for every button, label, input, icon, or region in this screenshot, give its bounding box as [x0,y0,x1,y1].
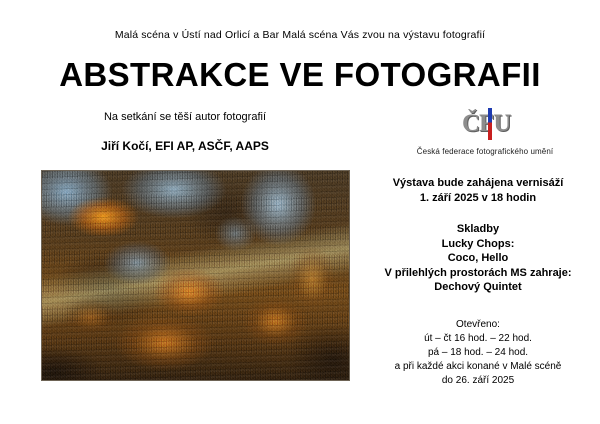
program-line: V přilehlých prostorách MS zahraje: [358,266,598,281]
cfu-flag-stripe-icon [488,108,492,140]
program-line: Dechový Quintet [358,280,598,295]
poster-canvas: Malá scéna v Ústí nad Orlicí a Bar Malá … [0,0,600,424]
hours-line: pá – 18 hod. – 24 hod. [358,346,598,360]
cfu-logo-letters: ČFU [462,108,508,140]
hours-heading: Otevřeno: [358,318,598,332]
poster-header-line: Malá scéna v Ústí nad Orlicí a Bar Malá … [0,29,600,41]
spacer [358,295,598,318]
hours-line: a při každé akci konané v Malé scéně [358,360,598,374]
program-block: Skladby Lucky Chops: Coco, Hello V přile… [358,222,598,295]
hours-block: Otevřeno: út – čt 16 hod. – 22 hod. pá –… [358,318,598,388]
hours-line: út – čt 16 hod. – 22 hod. [358,332,598,346]
opening-line: 1. září 2025 v 18 hodin [358,191,598,206]
spacer [358,205,598,222]
opening-block: Výstava bude zahájena vernisáží 1. září … [358,176,598,205]
program-line: Lucky Chops: [358,237,598,252]
author-name: Jiří Kočí, EFI AP, ASČF, AAPS [20,139,350,153]
hours-line: do 26. září 2025 [358,374,598,388]
program-line: Coco, Hello [358,251,598,266]
program-heading: Skladby [358,222,598,237]
photo-grain-overlay [42,171,349,380]
info-column: Výstava bude zahájena vernisáží 1. září … [358,176,598,388]
exhibition-photograph [41,170,350,381]
federation-caption: Česká federace fotografického umění [372,147,598,156]
federation-logo-block: ČFU Česká federace fotografického umění [372,108,598,156]
invite-line: Na setkání se těší autor fotografií [20,111,350,123]
opening-line: Výstava bude zahájena vernisáží [358,176,598,191]
cfu-logo-icon: ČFU [462,108,508,140]
page-title: ABSTRAKCE VE FOTOGRAFII [0,56,600,94]
